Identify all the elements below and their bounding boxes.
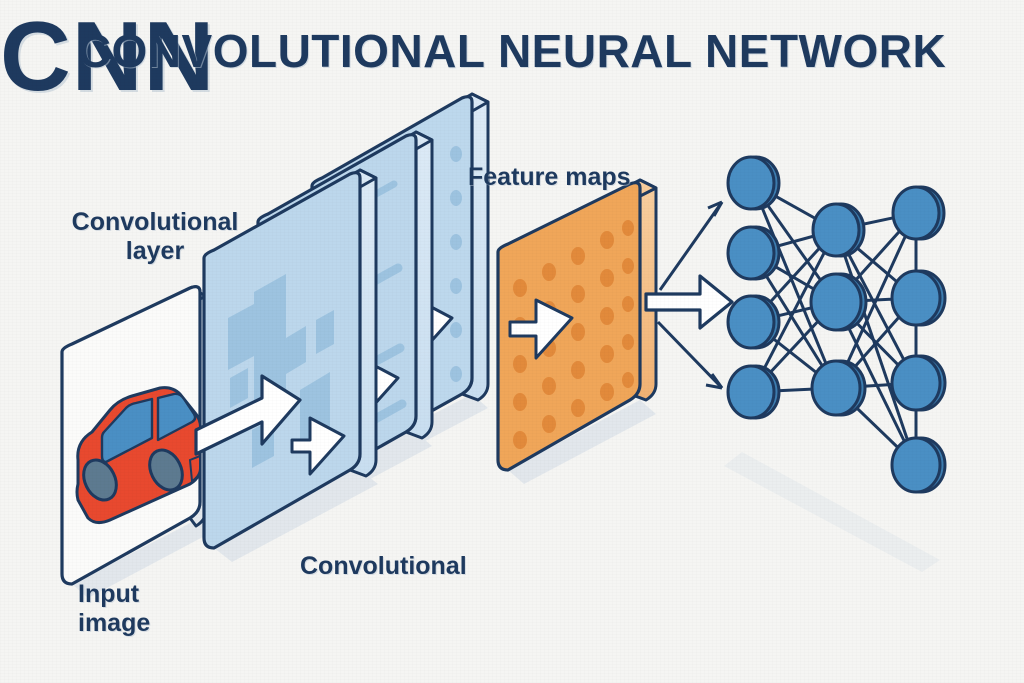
network-node	[813, 204, 864, 256]
label-feature-maps: Feature maps	[468, 163, 688, 192]
label-convolutional-layer: Convolutional layer	[50, 208, 260, 266]
arrow-featuremaps-to-node-bottom	[658, 322, 722, 388]
network-node	[728, 366, 779, 418]
illustration-canvas: CONVOLUTIONAL NEURAL NETWORK Convolution…	[0, 0, 1024, 683]
label-input-image: Input image	[78, 580, 208, 638]
network-node	[892, 356, 945, 410]
label-input-image-line2: image	[78, 609, 208, 638]
page-title: CONVOLUTIONAL NEURAL NETWORK	[0, 26, 1024, 78]
arrow-featuremaps-to-node-top	[660, 202, 722, 290]
network-node	[893, 187, 944, 239]
fully-connected-network	[728, 157, 945, 492]
label-convolutional: Convolutional	[300, 552, 530, 581]
network-node	[728, 296, 779, 348]
label-input-image-line1: Input	[78, 580, 208, 609]
network-node	[892, 438, 945, 492]
label-convolutional-layer-line2: layer	[50, 237, 260, 266]
network-node	[728, 227, 779, 279]
network-node	[811, 274, 866, 330]
label-convolutional-layer-line1: Convolutional	[50, 208, 260, 237]
arrow-featuremaps-to-network	[646, 276, 732, 328]
network-node	[812, 361, 865, 415]
network-nodes	[728, 157, 945, 492]
network-node	[728, 157, 779, 209]
network-node	[892, 271, 945, 325]
